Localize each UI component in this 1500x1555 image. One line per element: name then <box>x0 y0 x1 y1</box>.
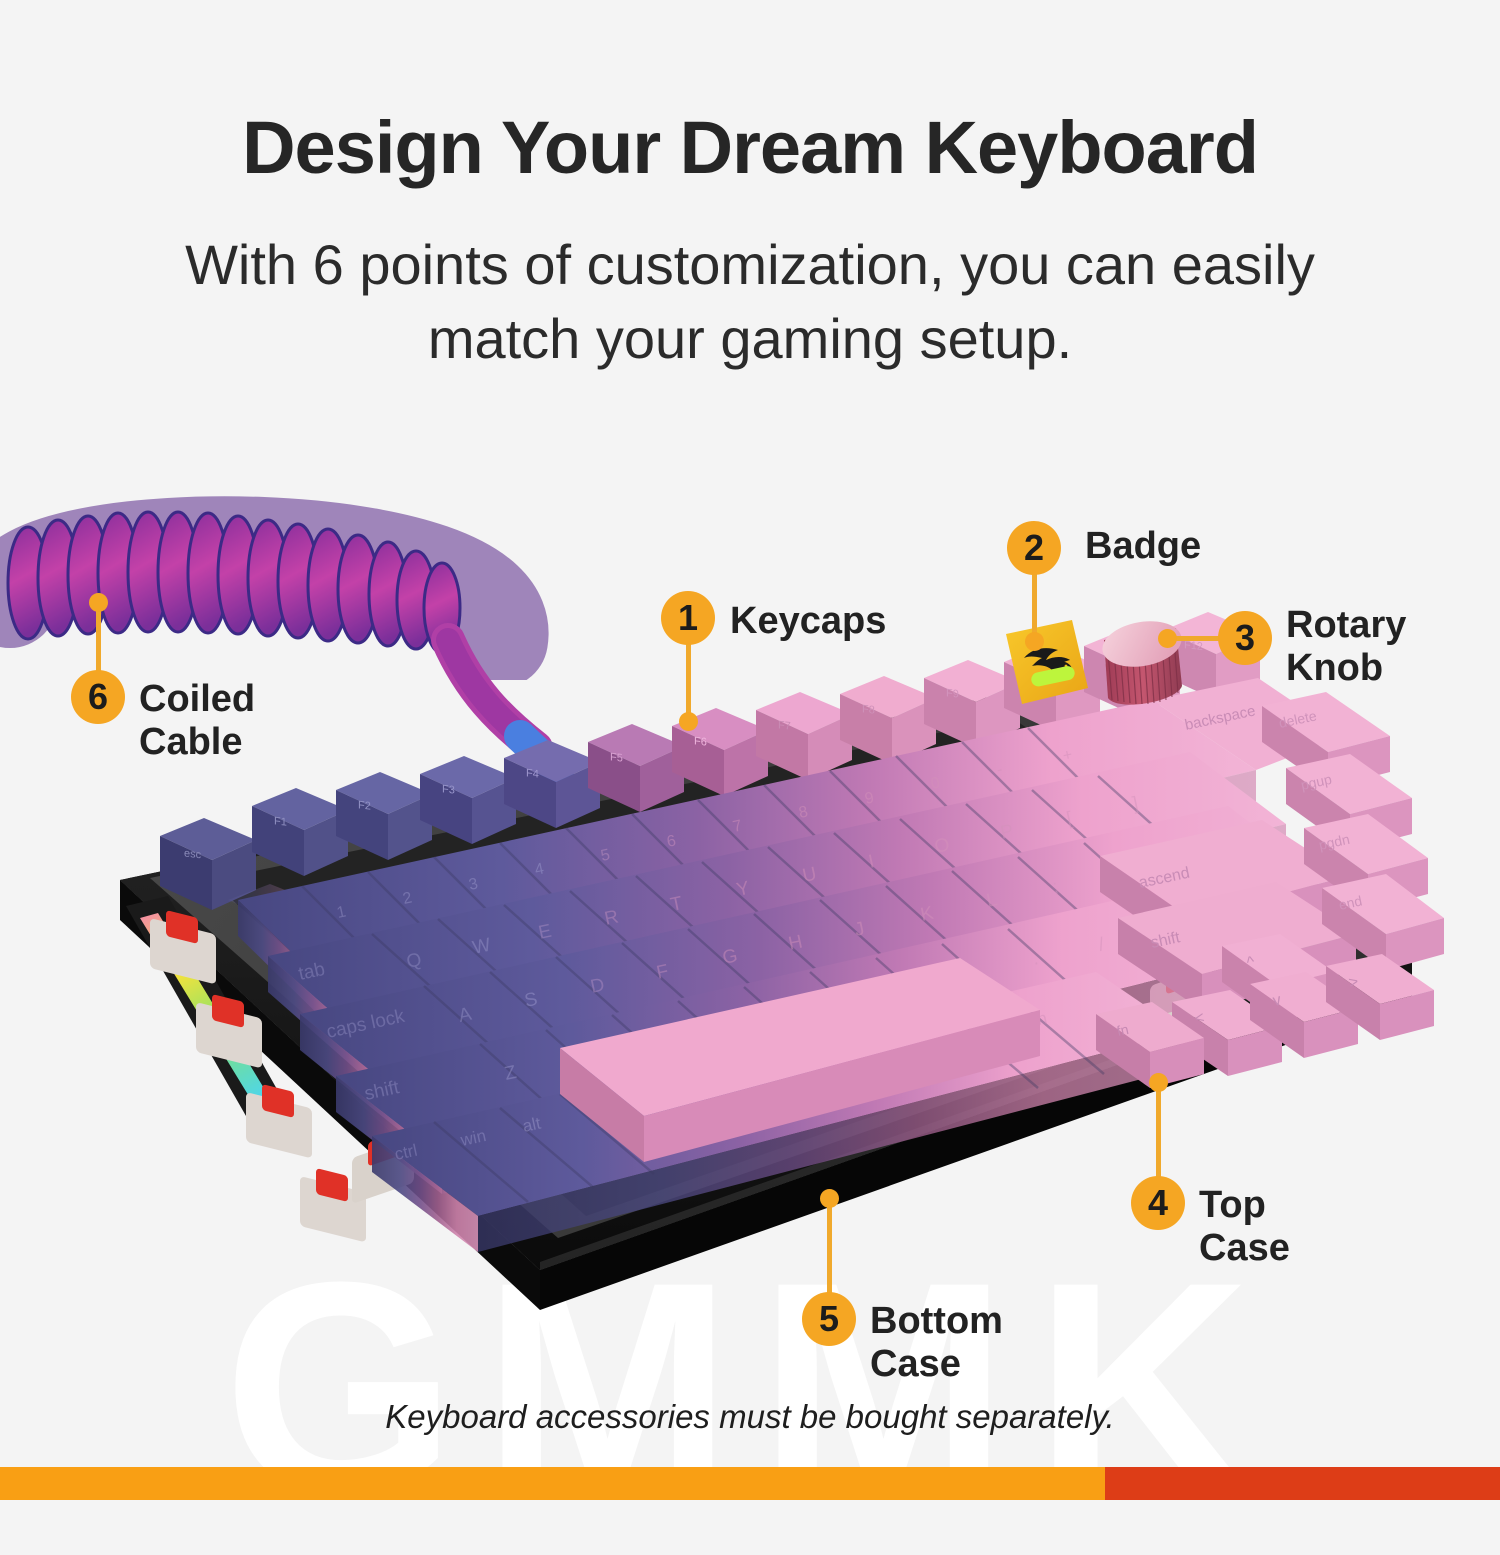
leader-line-5 <box>827 1196 832 1300</box>
callout-label-top-case: Top Case <box>1199 1184 1290 1269</box>
keycaps-art: esc F1 F2 F3 F4 F5 F6 F7 F8 F9 F10 F11 F… <box>160 612 1444 1252</box>
svg-text:F5: F5 <box>610 751 623 764</box>
callout-label-rotary-knob: Rotary Knob <box>1286 604 1406 689</box>
page-subtitle: With 6 points of customization, you can … <box>150 228 1350 376</box>
callout-label-badge: Badge <box>1085 525 1201 568</box>
callout-number-6[interactable]: 6 <box>71 670 125 724</box>
svg-text:F3: F3 <box>442 783 455 796</box>
page-title: Design Your Dream Keyboard <box>0 105 1500 190</box>
callout-label-keycaps: Keycaps <box>730 600 886 643</box>
leader-dot-4 <box>1149 1073 1168 1092</box>
accent-bar-red-segment <box>1105 1467 1500 1500</box>
svg-text:F1: F1 <box>274 815 287 828</box>
coiled-cable-art <box>8 512 558 772</box>
svg-text:F12: F12 <box>1184 639 1203 653</box>
callout-number-2[interactable]: 2 <box>1007 521 1061 575</box>
bottom-accent-bar <box>0 1467 1500 1500</box>
disclaimer-note: Keyboard accessories must be bought sepa… <box>0 1398 1500 1436</box>
callout-number-1[interactable]: 1 <box>661 591 715 645</box>
leader-dot-5 <box>820 1189 839 1208</box>
leader-dot-6 <box>89 593 108 612</box>
leader-dot-3 <box>1158 629 1177 648</box>
accent-bar-orange-segment <box>0 1467 1105 1500</box>
leader-dot-1 <box>679 712 698 731</box>
rotary-knob-art <box>1099 615 1185 704</box>
svg-text:F6: F6 <box>694 735 707 748</box>
leader-line-1 <box>686 640 691 722</box>
callout-number-5[interactable]: 5 <box>802 1292 856 1346</box>
leader-dot-2 <box>1025 632 1044 651</box>
leader-line-4 <box>1156 1080 1161 1184</box>
svg-text:F4: F4 <box>526 767 539 780</box>
svg-text:F7: F7 <box>778 719 791 732</box>
svg-text:F8: F8 <box>862 703 875 716</box>
callout-number-4[interactable]: 4 <box>1131 1176 1185 1230</box>
svg-text:esc: esc <box>184 848 202 862</box>
callout-number-3[interactable]: 3 <box>1218 611 1272 665</box>
callout-label-bottom-case: Bottom Case <box>870 1300 1003 1385</box>
callout-label-coiled-cable: Coiled Cable <box>139 678 255 763</box>
svg-text:F9: F9 <box>946 687 959 700</box>
svg-text:F2: F2 <box>358 799 371 812</box>
